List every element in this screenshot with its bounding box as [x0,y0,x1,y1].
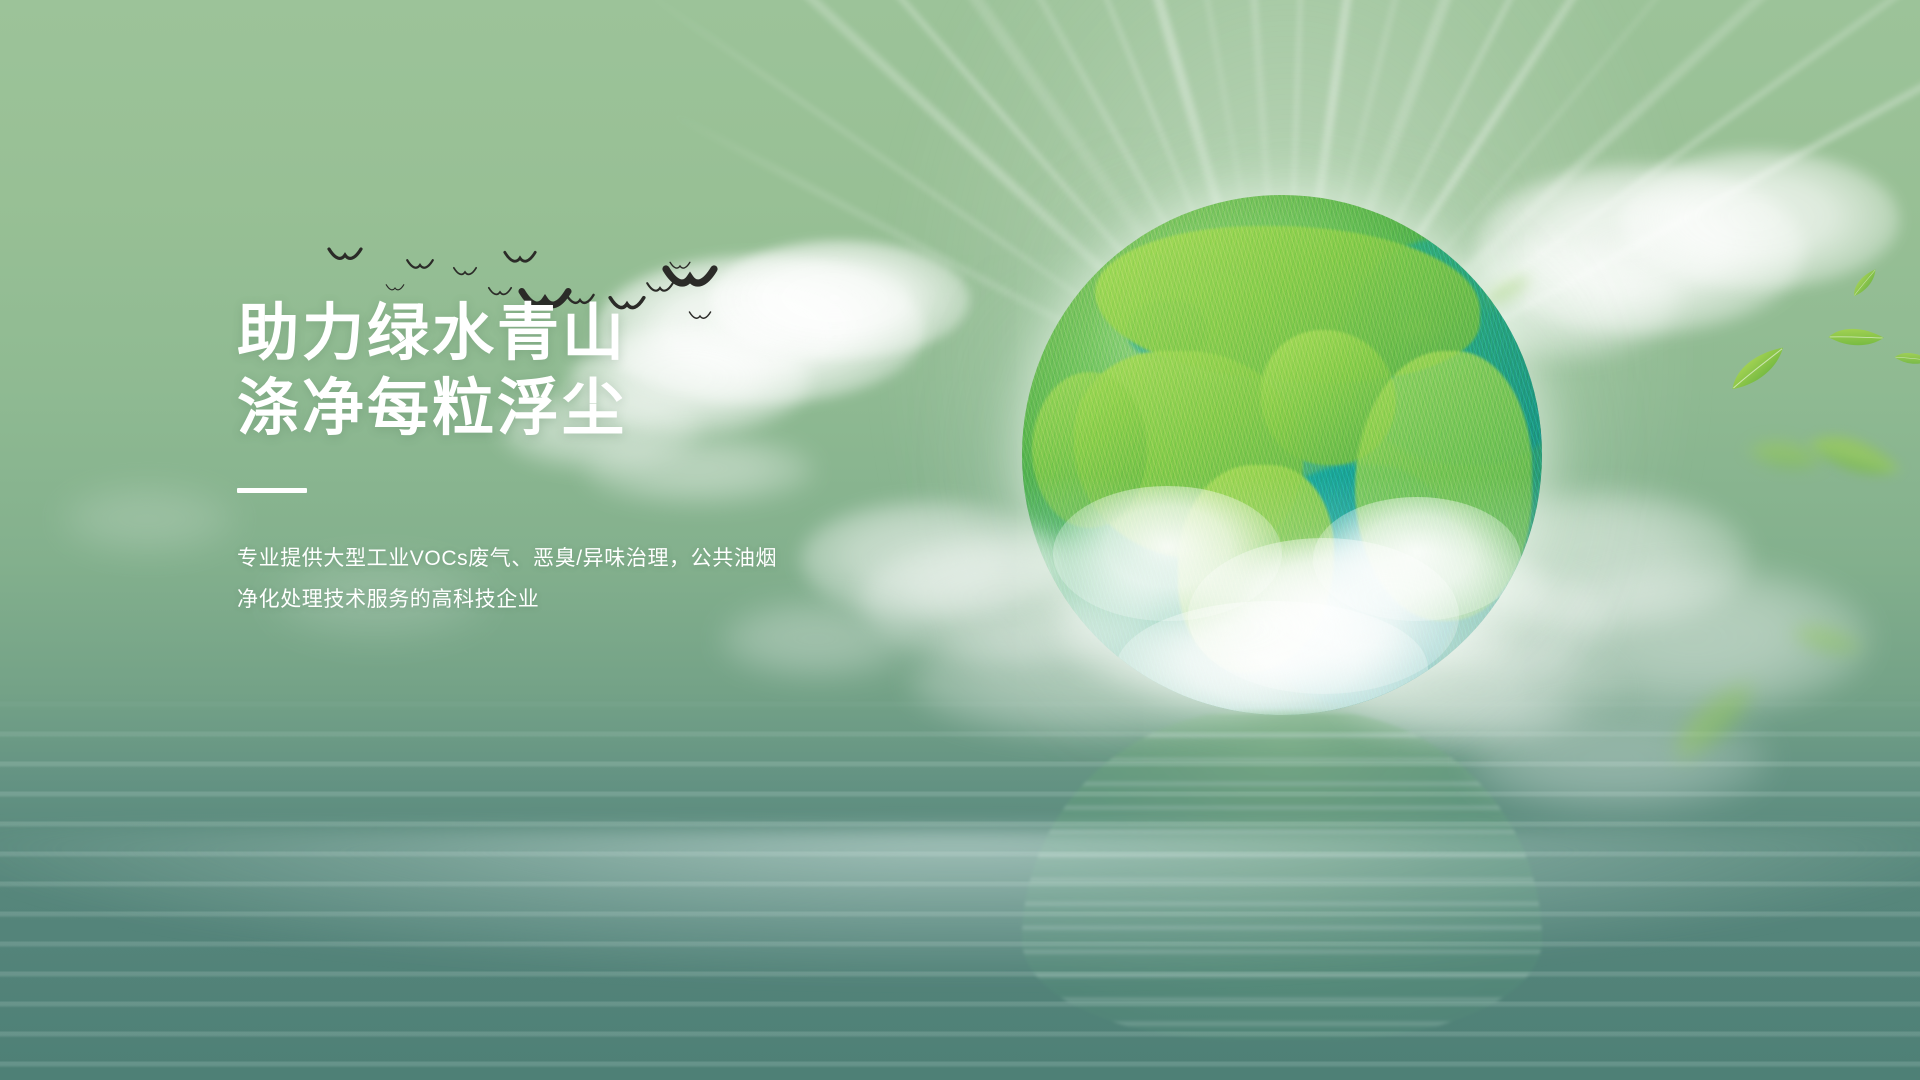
headline-line-2: 涤净每粒浮尘 [237,371,937,446]
hero-description: 专业提供大型工业VOCs废气、恶臭/异味治理，公共油烟净化处理技术服务的高科技企… [237,539,782,621]
hero-copy: 助力绿水青山 涤净每粒浮尘 专业提供大型工业VOCs废气、恶臭/异味治理，公共油… [237,296,937,621]
headline-divider [237,488,307,493]
hero-banner: 助力绿水青山 涤净每粒浮尘 专业提供大型工业VOCs废气、恶臭/异味治理，公共油… [0,0,1920,1080]
headline-line-1: 助力绿水青山 [237,296,937,371]
